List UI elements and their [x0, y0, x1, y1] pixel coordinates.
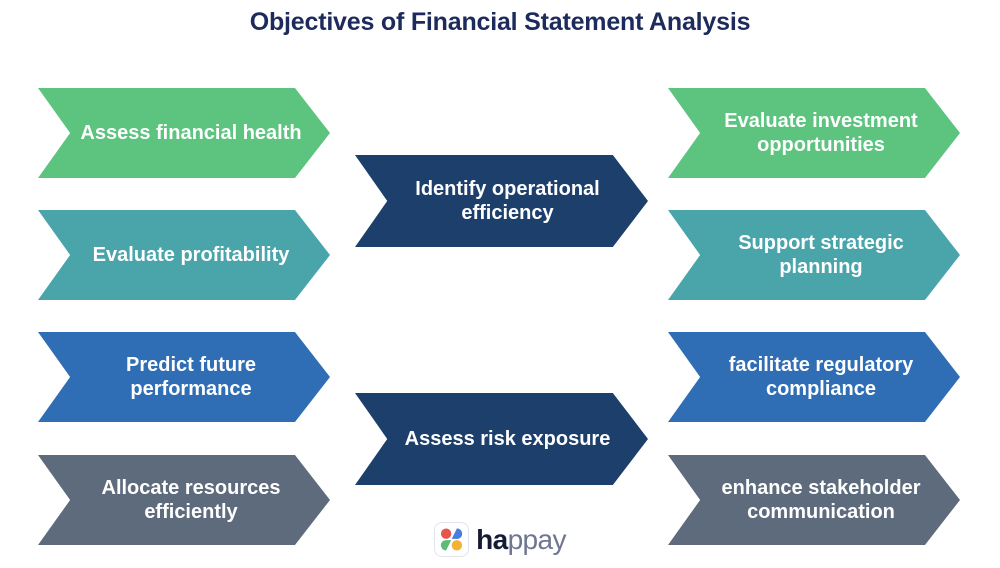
objective-card-evaluate-profitability: Evaluate profitability [38, 210, 330, 300]
objective-card-support-strategic-planning: Support strategic planning [668, 210, 960, 300]
objective-label: Evaluate profitability [67, 243, 302, 267]
objective-card-facilitate-regulatory-compliance: facilitate regulatory compliance [668, 332, 960, 422]
objective-label: Support strategic planning [668, 231, 960, 280]
objective-card-assess-financial-health: Assess financial health [38, 88, 330, 178]
objective-label: Assess risk exposure [375, 427, 629, 451]
happay-wordmark: happay [476, 526, 566, 554]
objective-label: Identify operational efficiency [355, 177, 648, 226]
blue-teardrop-icon [452, 529, 462, 539]
objective-card-assess-risk-exposure: Assess risk exposure [355, 393, 648, 485]
red-dot-icon [441, 529, 451, 539]
happay-logo-mark-icon [434, 522, 469, 557]
objective-label: Allocate resources efficiently [38, 476, 330, 525]
objective-label: Assess financial health [54, 121, 313, 145]
wordmark-light: ppay [508, 524, 566, 555]
green-teardrop-icon [441, 540, 451, 550]
objective-label: Evaluate investment opportunities [668, 109, 960, 158]
objective-card-predict-future-performance: Predict future performance [38, 332, 330, 422]
happay-logo: happay [0, 522, 1000, 557]
objective-label: facilitate regulatory compliance [668, 353, 960, 402]
page-title: Objectives of Financial Statement Analys… [0, 8, 1000, 37]
objective-label: enhance stakeholder communication [668, 476, 960, 525]
objective-label: Predict future performance [38, 353, 330, 402]
wordmark-bold: ha [476, 524, 507, 555]
yellow-dot-icon [452, 540, 462, 550]
objective-card-identify-operational-efficiency: Identify operational efficiency [355, 155, 648, 247]
objective-card-evaluate-investment-opportunities: Evaluate investment opportunities [668, 88, 960, 178]
